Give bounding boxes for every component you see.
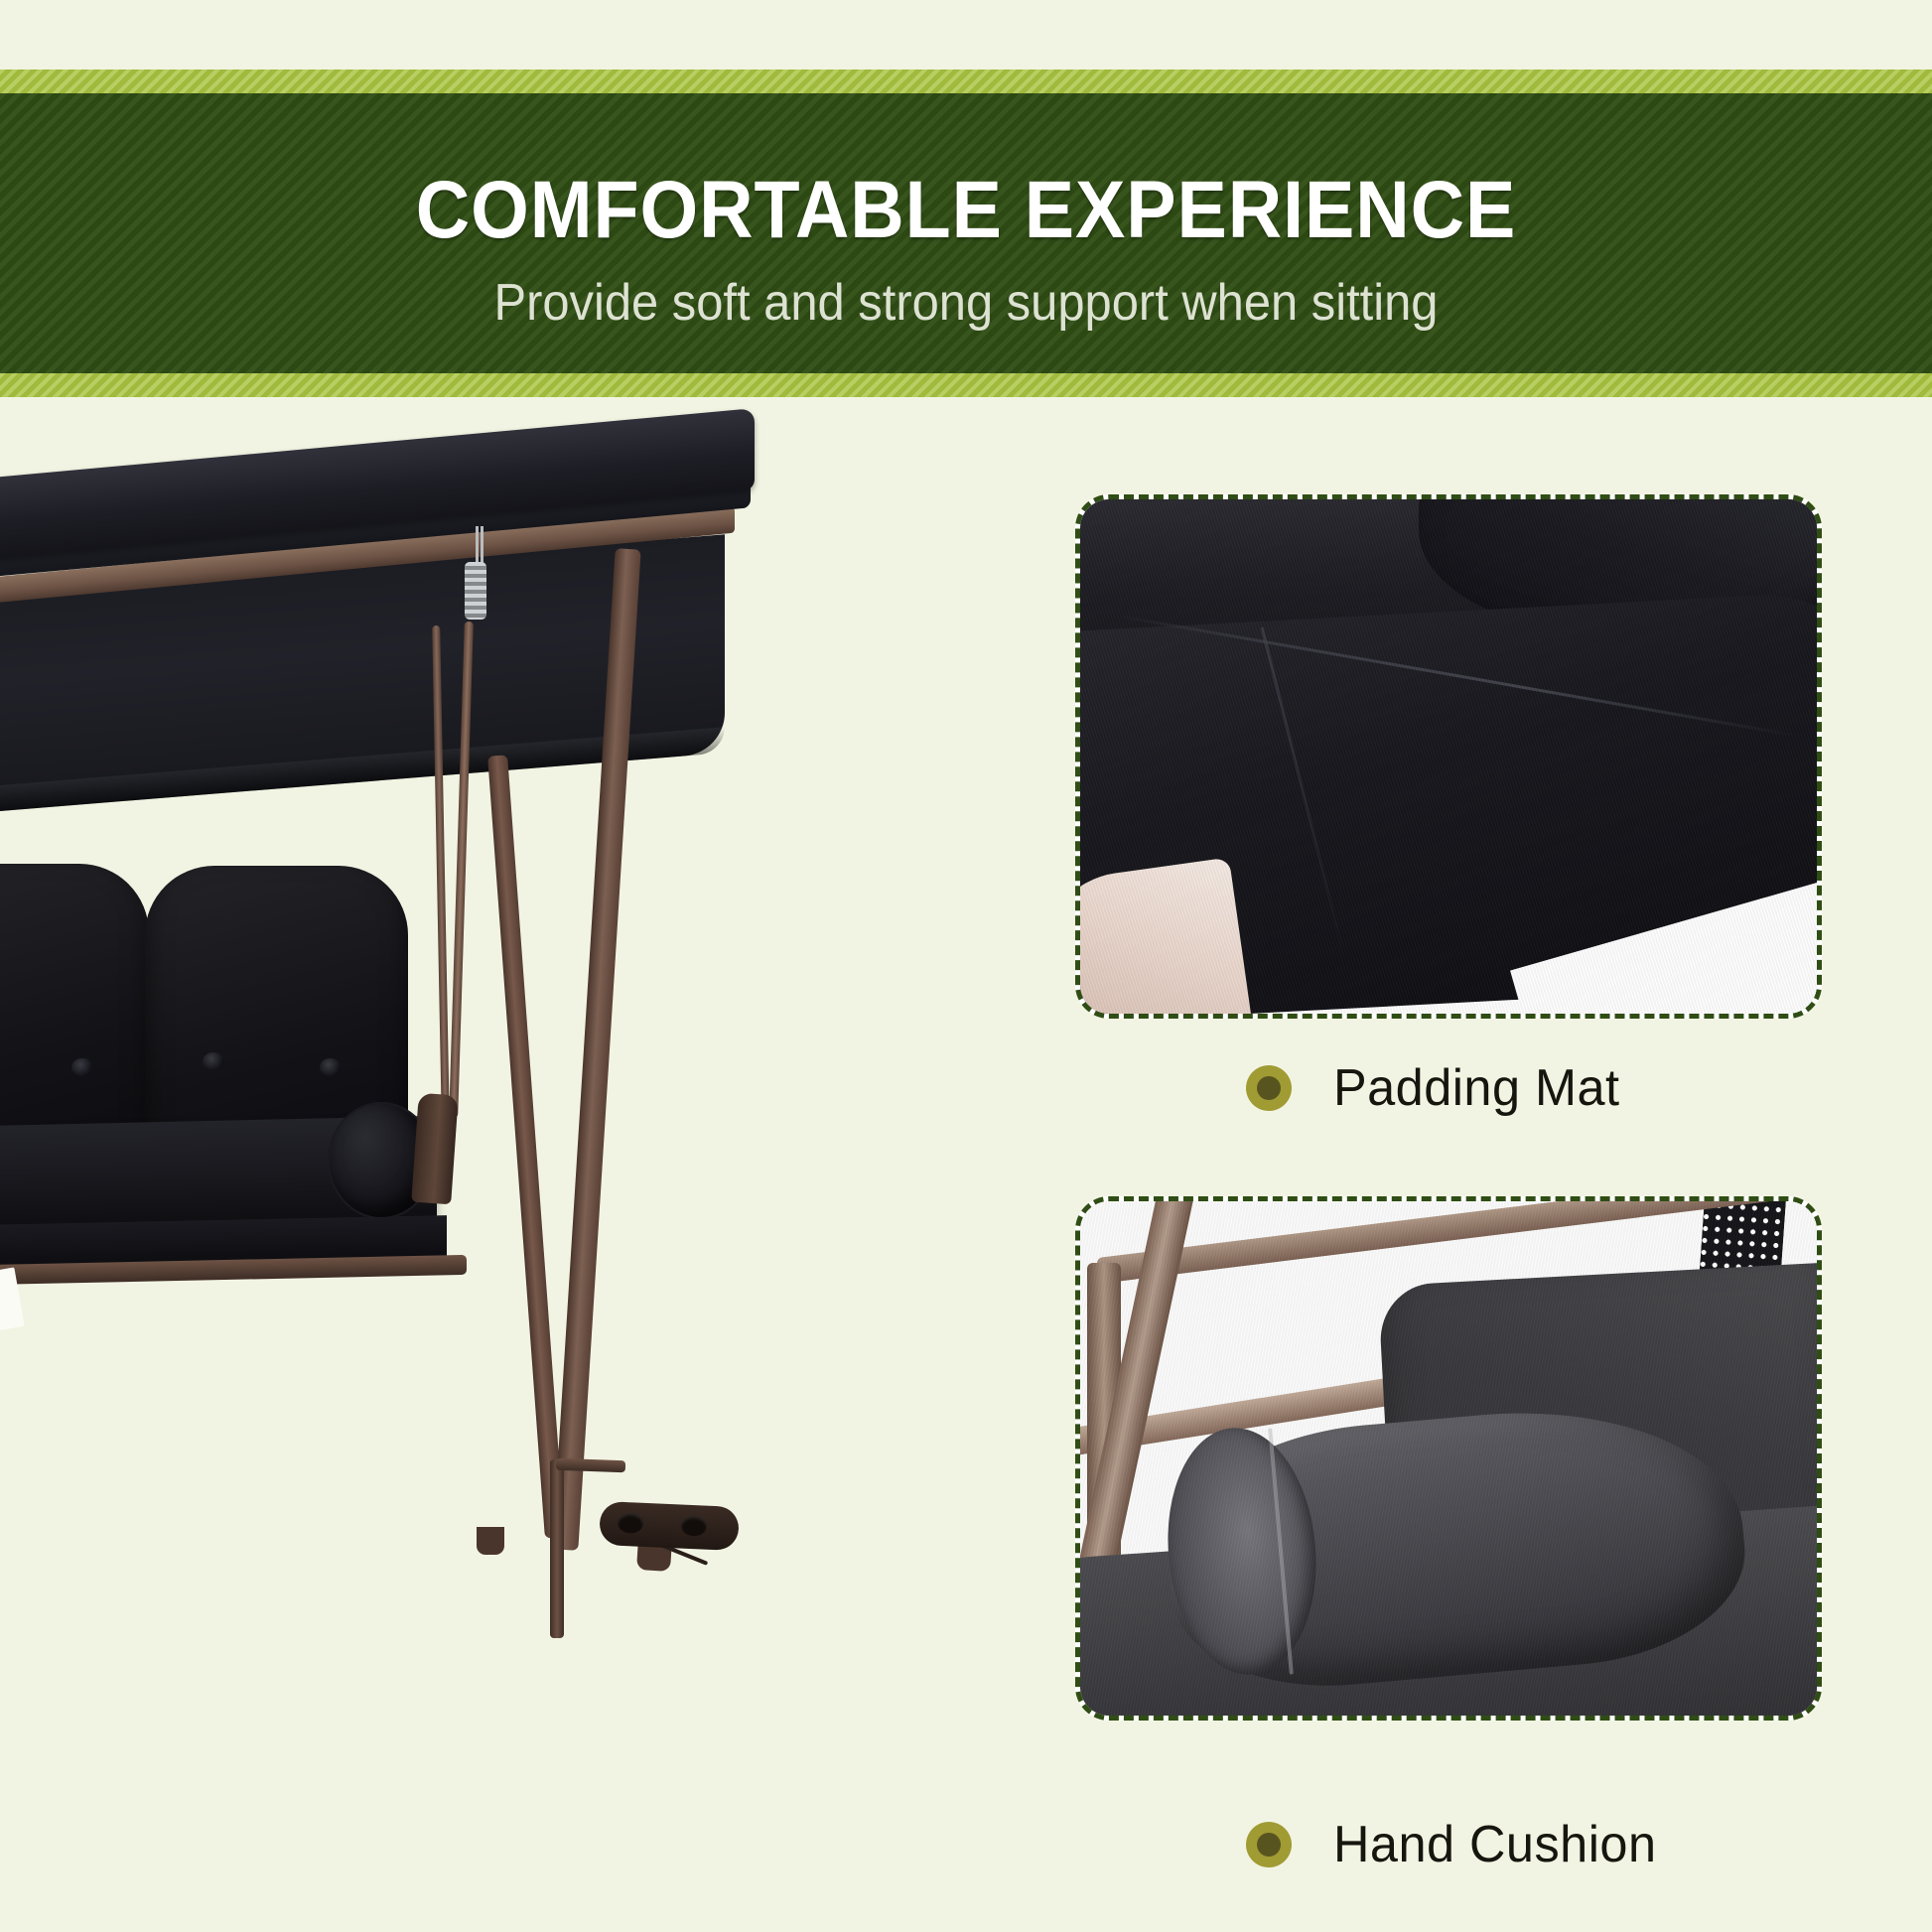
infographic-page: COMFORTABLE EXPERIENCE Provide soft and …: [0, 0, 1932, 1932]
banner-stripe-bottom: [0, 373, 1932, 397]
main-product-photo: [0, 427, 983, 1579]
header-banner: COMFORTABLE EXPERIENCE Provide soft and …: [0, 69, 1932, 397]
bullet-core: [1257, 1076, 1281, 1100]
caption-hand-cushion: Hand Cushion: [1246, 1812, 1667, 1877]
cup-holder-tray: [599, 1501, 740, 1551]
banner-subtitle: Provide soft and strong support when sit…: [58, 273, 1873, 333]
armrest: [411, 1093, 459, 1205]
tuft-button: [203, 1052, 224, 1070]
bullet-point-icon: [1246, 1822, 1292, 1867]
tuft-button: [320, 1058, 342, 1076]
suspension-spring: [465, 562, 486, 620]
detail-panel-padding-mat: [1075, 494, 1822, 1019]
cup-holder-slot: [618, 1513, 644, 1534]
bullet-core: [1257, 1833, 1281, 1857]
banner-title: COMFORTABLE EXPERIENCE: [77, 164, 1855, 257]
banner-stripe-top: [0, 69, 1932, 93]
detail-panel-hand-cushion: [1075, 1196, 1822, 1721]
caption-padding-mat: Padding Mat: [1246, 1055, 1628, 1121]
product-illustration: [0, 427, 983, 1579]
cup-holder-slot: [681, 1516, 708, 1537]
frame-post-rear: [487, 755, 565, 1538]
caption-label: Hand Cushion: [1333, 1815, 1656, 1874]
frame-foot-rear: [477, 1527, 504, 1555]
bullet-point-icon: [1246, 1065, 1292, 1111]
tray-support-post: [550, 1459, 564, 1638]
frame-beige-highlight: [1075, 857, 1254, 1019]
tuft-button: [71, 1058, 93, 1076]
tray-support-arm: [556, 1458, 625, 1472]
caption-label: Padding Mat: [1333, 1058, 1620, 1118]
